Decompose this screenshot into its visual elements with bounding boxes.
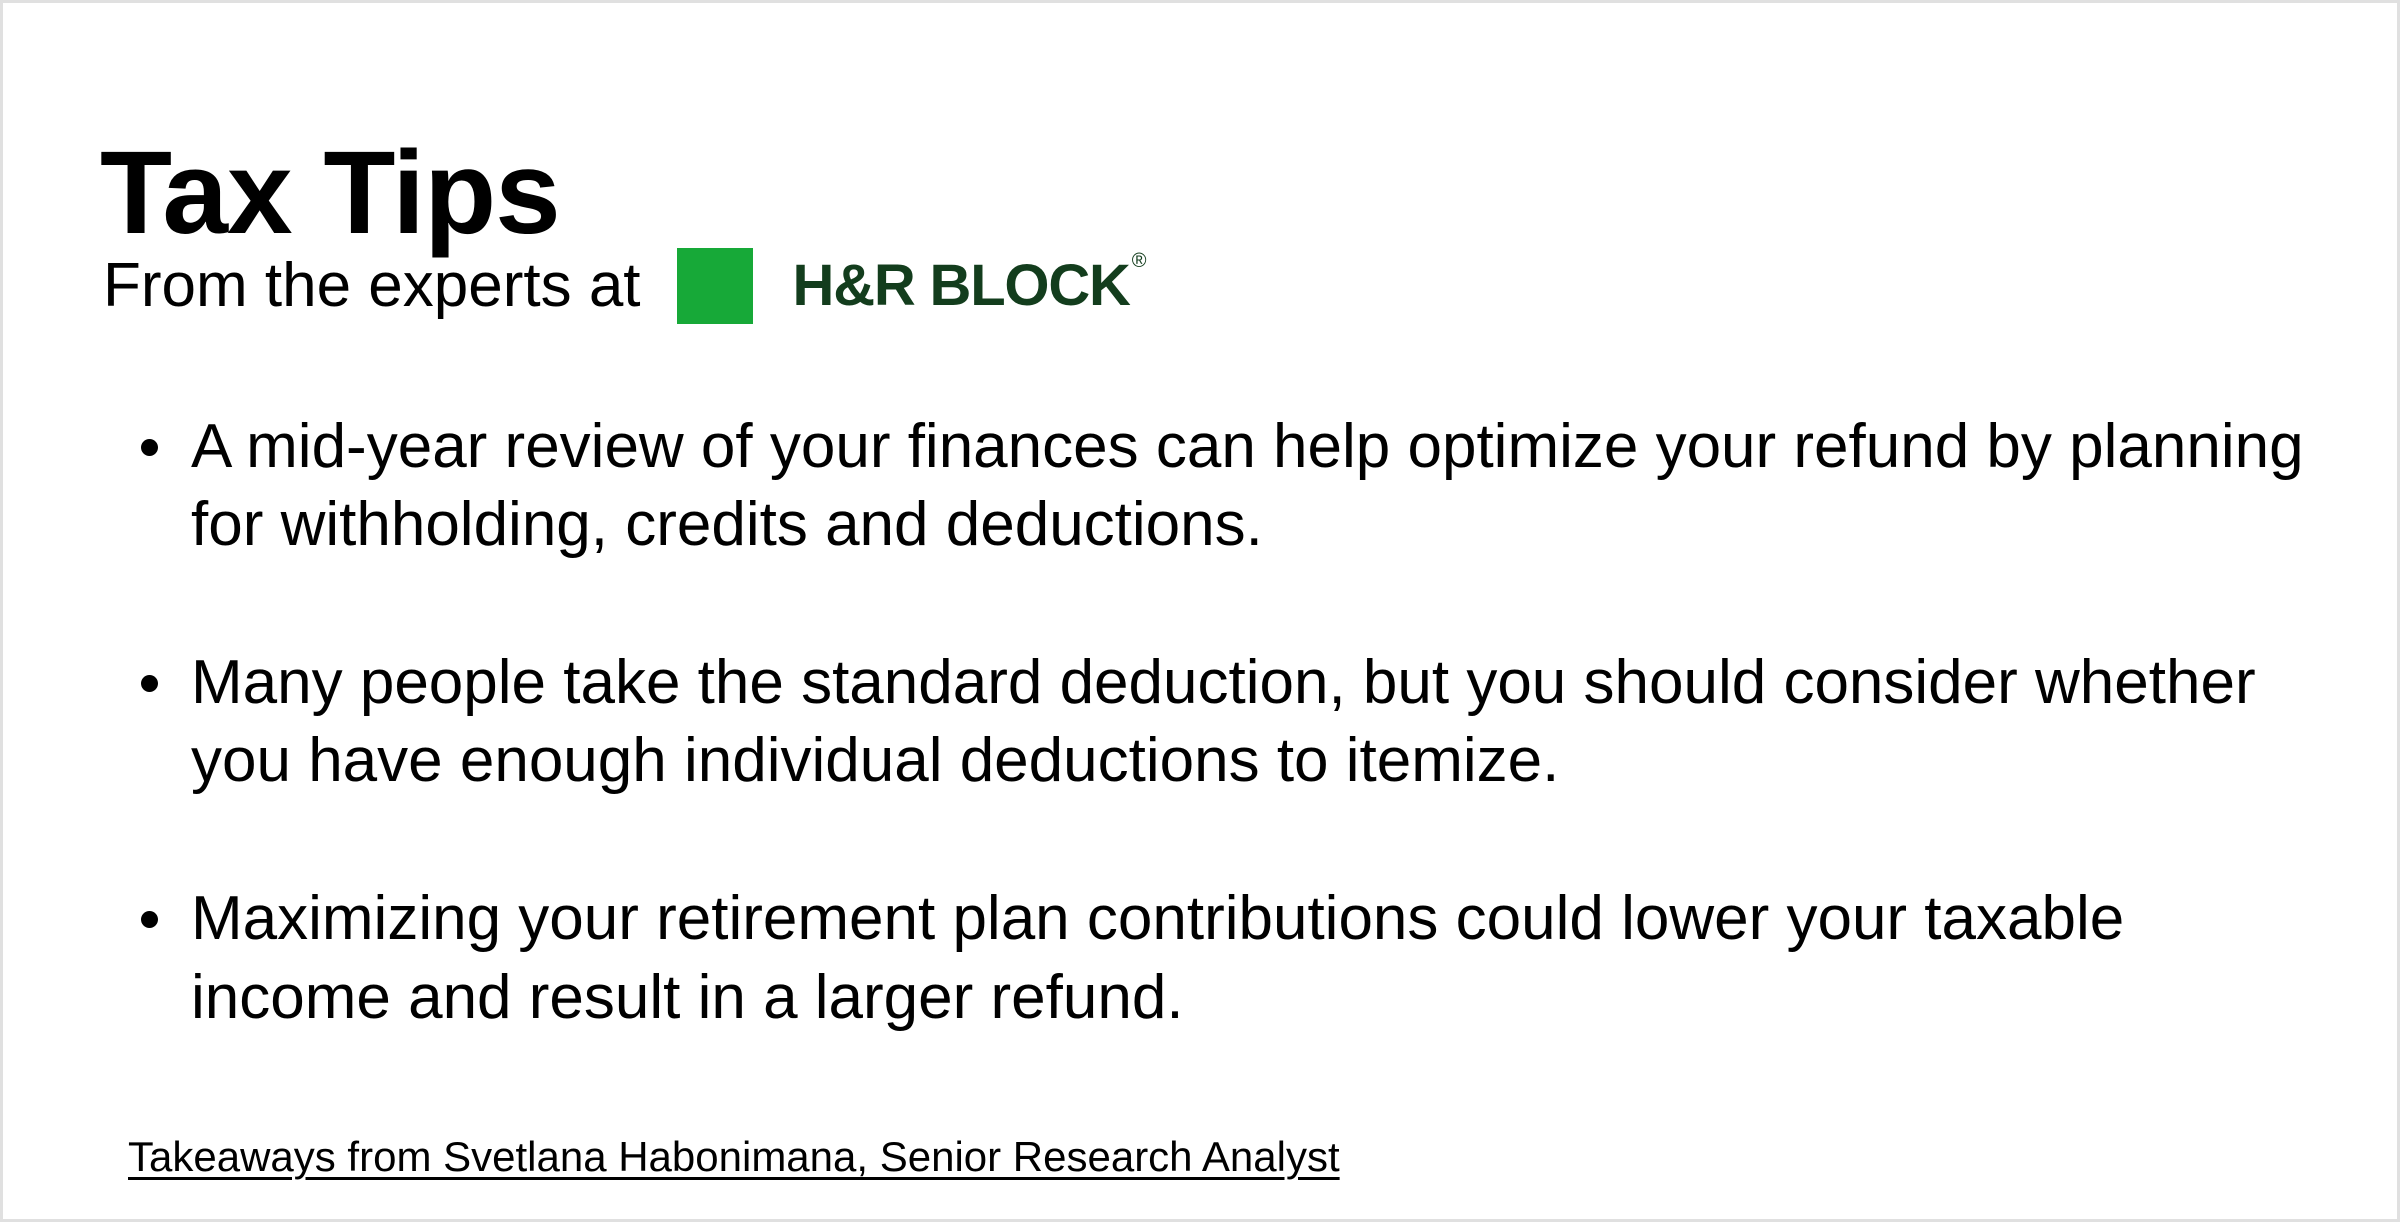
bullet-list: A mid-year review of your finances can h…: [133, 408, 2323, 1037]
hr-block-wordmark-text: H&R BLOCK: [793, 253, 1130, 318]
bullet-text: Maximizing your retirement plan contribu…: [191, 880, 2323, 1036]
registered-trademark-icon: ®: [1132, 250, 1146, 272]
hr-block-green-square-icon: [677, 248, 753, 324]
page-title: Tax Tips: [100, 130, 560, 257]
bullet-dot-icon: [141, 439, 158, 456]
list-item: Many people take the standard deduction,…: [133, 644, 2323, 800]
attribution-footer: Takeaways from Svetlana Habonimana, Seni…: [128, 1132, 1340, 1182]
byline-row: From the experts at H&R BLOCK®: [103, 243, 1143, 329]
bullet-dot-icon: [141, 911, 158, 928]
hr-block-logo: H&R BLOCK®: [677, 248, 1144, 324]
bullet-text: A mid-year review of your finances can h…: [191, 408, 2323, 564]
bullet-dot-icon: [141, 675, 158, 692]
hr-block-wordmark: H&R BLOCK®: [793, 257, 1144, 315]
list-item: A mid-year review of your finances can h…: [133, 408, 2323, 564]
list-item: Maximizing your retirement plan contribu…: [133, 880, 2323, 1036]
byline-text: From the experts at: [103, 255, 641, 317]
slide-canvas: Tax Tips From the experts at H&R BLOCK® …: [0, 0, 2400, 1222]
slide-content: Tax Tips From the experts at H&R BLOCK® …: [3, 3, 2400, 1222]
bullet-text: Many people take the standard deduction,…: [191, 644, 2323, 800]
